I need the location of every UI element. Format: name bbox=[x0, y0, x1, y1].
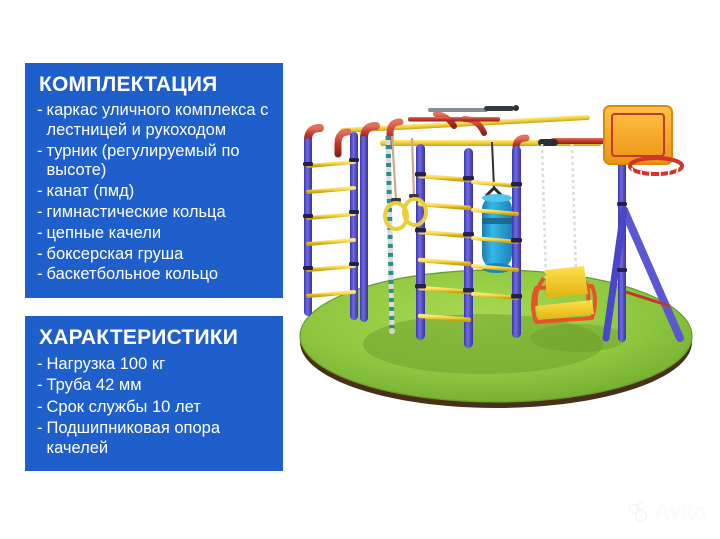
list-item-label: Нагрузка 100 кг bbox=[47, 354, 272, 374]
list-item-label: гимнастические кольца bbox=[47, 203, 272, 223]
list-item-label: канат (пмд) bbox=[47, 182, 272, 202]
avito-dots-icon bbox=[629, 502, 649, 522]
bullet-dash: - bbox=[37, 245, 43, 265]
list-item: - турник (регулируемый по высоте) bbox=[37, 142, 271, 182]
bullet-dash: - bbox=[37, 101, 43, 121]
grass-platform bbox=[300, 270, 692, 408]
list-item-label: турник (регулируемый по высоте) bbox=[47, 142, 272, 182]
list-item: - баскетбольное кольцо bbox=[37, 265, 271, 285]
avito-watermark: Avito bbox=[629, 499, 706, 525]
bullet-dash: - bbox=[37, 397, 43, 417]
ladder-middle bbox=[415, 144, 474, 348]
list-item: - Подшипниковая опора качелей bbox=[37, 418, 271, 458]
bullet-dash: - bbox=[37, 224, 43, 244]
list-item: - Труба 42 мм bbox=[37, 375, 271, 395]
list-item: - Срок службы 10 лет bbox=[37, 397, 271, 417]
page-root: КОМПЛЕКТАЦИЯ - каркас уличного комплекса… bbox=[0, 0, 720, 539]
list-item: - каркас уличного комплекса с лестницей … bbox=[37, 101, 271, 141]
info-box-harakteristiki: ХАРАКТЕРИСТИКИ - Нагрузка 100 кг - Труба… bbox=[25, 316, 283, 471]
harakteristiki-list: - Нагрузка 100 кг - Труба 42 мм - Срок с… bbox=[37, 354, 271, 458]
list-item-label: Подшипниковая опора качелей bbox=[47, 418, 272, 458]
list-item: - гимнастические кольца bbox=[37, 203, 271, 223]
bullet-dash: - bbox=[37, 265, 43, 285]
list-item-label: каркас уличного комплекса с лестницей и … bbox=[47, 101, 272, 141]
list-item: - боксерская груша bbox=[37, 245, 271, 265]
bullet-dash: - bbox=[37, 418, 43, 438]
monkey-bars-and-horizontal-bar bbox=[338, 105, 608, 154]
bullet-dash: - bbox=[37, 375, 43, 395]
watermark-label: Avito bbox=[654, 499, 706, 525]
list-item-label: баскетбольное кольцо bbox=[47, 265, 272, 285]
ladder-left bbox=[303, 128, 359, 320]
list-item-label: Труба 42 мм bbox=[47, 375, 272, 395]
list-item: - цепные качели bbox=[37, 224, 271, 244]
bullet-dash: - bbox=[37, 354, 43, 374]
info-box-komplektaciya: КОМПЛЕКТАЦИЯ - каркас уличного комплекса… bbox=[25, 63, 283, 298]
list-item: - канат (пмд) bbox=[37, 182, 271, 202]
bullet-dash: - bbox=[37, 203, 43, 223]
product-image-playground bbox=[288, 92, 708, 422]
bullet-dash: - bbox=[37, 142, 43, 162]
info-panel: КОМПЛЕКТАЦИЯ - каркас уличного комплекса… bbox=[25, 63, 283, 471]
list-item-label: боксерская груша bbox=[47, 245, 272, 265]
info-box-title: КОМПЛЕКТАЦИЯ bbox=[39, 74, 271, 96]
punching-bag bbox=[482, 142, 512, 273]
info-box-title: ХАРАКТЕРИСТИКИ bbox=[39, 327, 271, 349]
komplektaciya-list: - каркас уличного комплекса с лестницей … bbox=[37, 101, 271, 285]
list-item: - Нагрузка 100 кг bbox=[37, 354, 271, 374]
list-item-label: цепные качели bbox=[47, 224, 272, 244]
bullet-dash: - bbox=[37, 182, 43, 202]
list-item-label: Срок службы 10 лет bbox=[47, 397, 272, 417]
